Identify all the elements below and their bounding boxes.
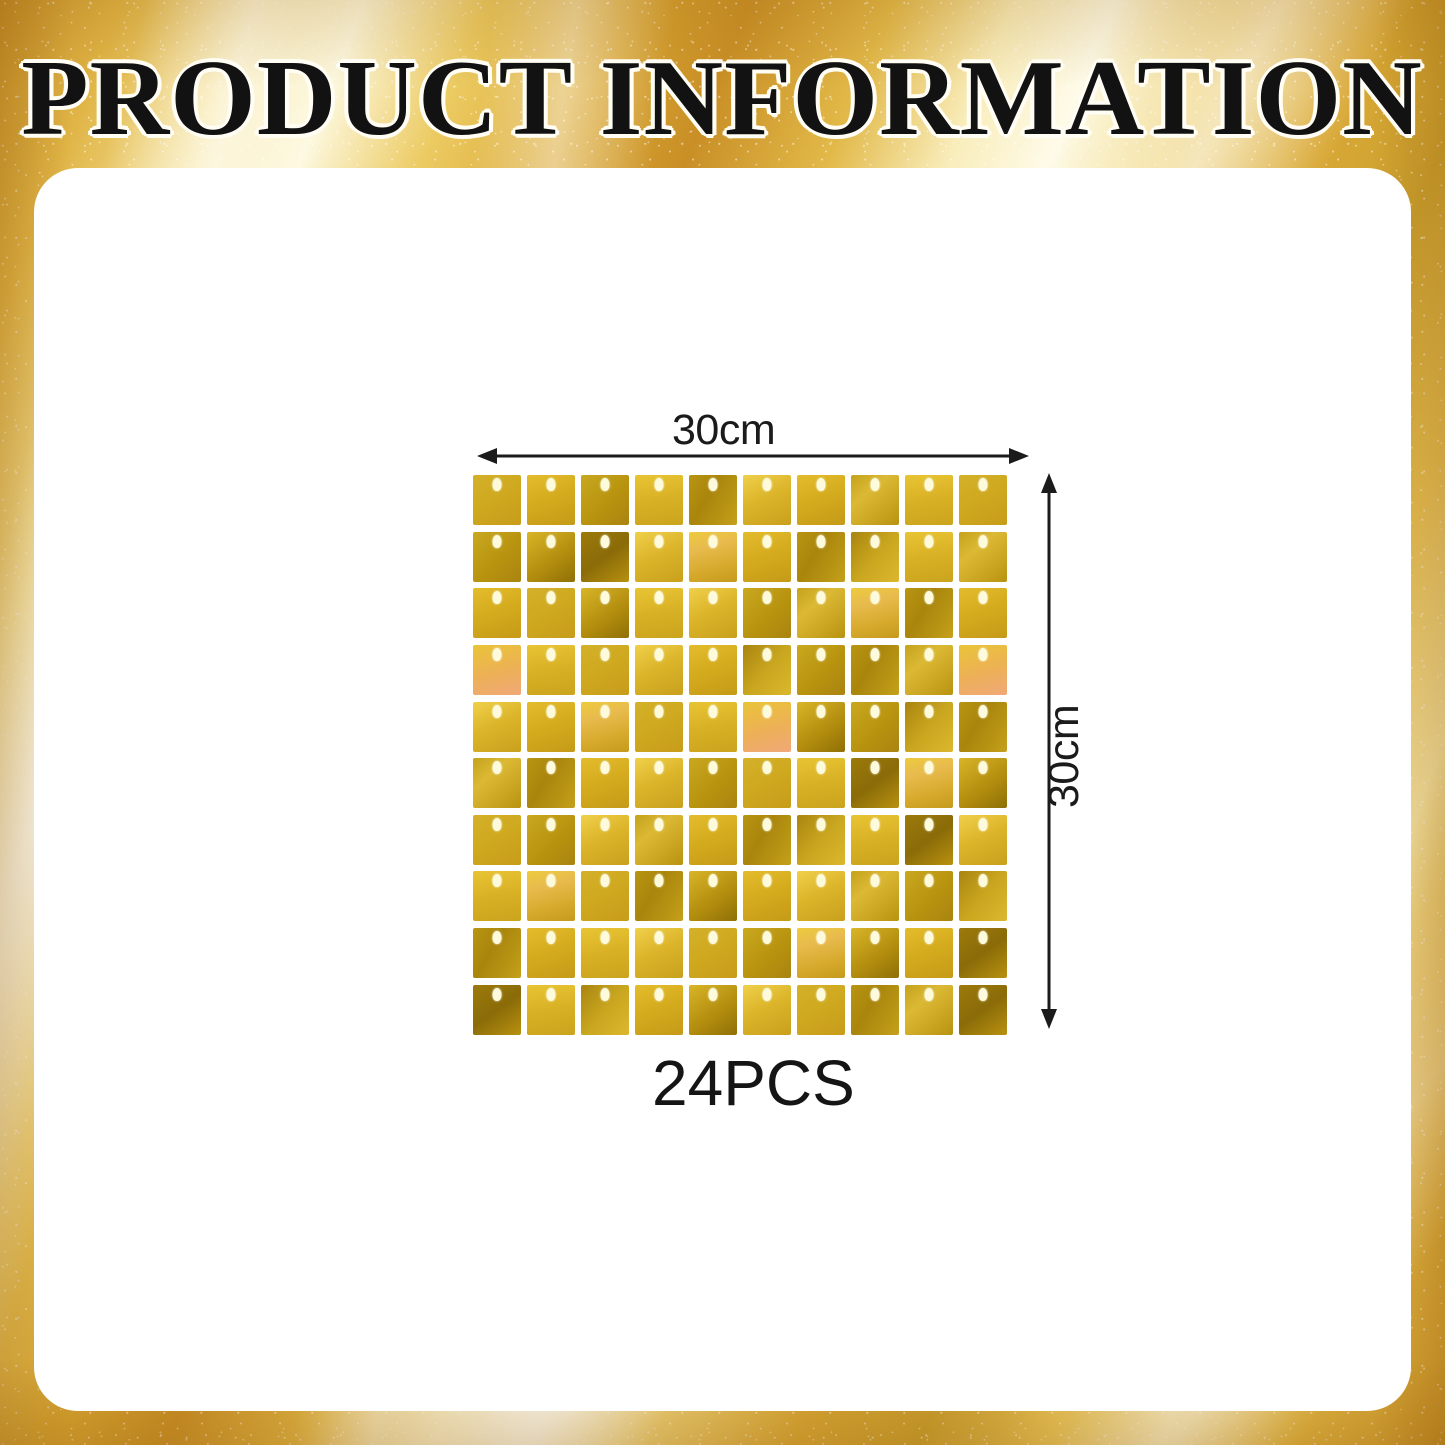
sequin-tile xyxy=(635,815,683,865)
sequin-tile xyxy=(527,475,575,525)
sequin-tile xyxy=(743,475,791,525)
sequin-tile xyxy=(959,645,1007,695)
sequin-tile xyxy=(959,532,1007,582)
sequin-tile xyxy=(851,702,899,752)
sequin-tile xyxy=(473,702,521,752)
sequin-tile xyxy=(473,475,521,525)
sequin-tile xyxy=(581,815,629,865)
sequin-tile xyxy=(851,532,899,582)
sequin-tile xyxy=(635,928,683,978)
sequin-tile xyxy=(527,928,575,978)
sequin-tile xyxy=(797,475,845,525)
arrow-down-icon xyxy=(1041,1009,1057,1029)
sequin-tile xyxy=(527,645,575,695)
sequin-tile xyxy=(689,645,737,695)
sequin-tile xyxy=(743,588,791,638)
sequin-tile xyxy=(527,532,575,582)
sequin-tile xyxy=(797,928,845,978)
title-bar: PRODUCT INFORMATION xyxy=(0,44,1445,154)
sequin-tile xyxy=(635,645,683,695)
page-title: PRODUCT INFORMATION xyxy=(22,45,1423,153)
sequin-tile xyxy=(797,758,845,808)
dimension-diagram: 30cm 30cm xyxy=(34,168,1411,1411)
sequin-tile xyxy=(743,871,791,921)
sequin-tile xyxy=(581,758,629,808)
sequin-tile xyxy=(473,815,521,865)
sequin-tile xyxy=(527,758,575,808)
sequin-tile xyxy=(473,871,521,921)
sequin-tile xyxy=(905,475,953,525)
sequin-tile xyxy=(581,985,629,1035)
sequin-tile xyxy=(635,702,683,752)
sequin-tile xyxy=(635,985,683,1035)
sequin-tile xyxy=(905,588,953,638)
sequin-tile xyxy=(797,871,845,921)
sequin-tile xyxy=(905,985,953,1035)
sequin-tile xyxy=(743,815,791,865)
sequin-tile xyxy=(635,588,683,638)
vertical-dimension-arrow xyxy=(1039,473,1059,1029)
sequin-tile xyxy=(905,645,953,695)
sequin-tile xyxy=(959,815,1007,865)
sequin-tile xyxy=(689,702,737,752)
sequin-tile xyxy=(797,588,845,638)
sequin-tile xyxy=(959,758,1007,808)
sequin-tile xyxy=(635,532,683,582)
arrow-left-icon xyxy=(477,448,497,464)
sequin-tile xyxy=(689,758,737,808)
sequin-tile xyxy=(473,645,521,695)
horizontal-dimension-arrow xyxy=(477,446,1029,466)
sequin-tile xyxy=(851,928,899,978)
sequin-tile xyxy=(581,475,629,525)
sequin-tile xyxy=(689,475,737,525)
sequin-tile xyxy=(851,985,899,1035)
sequin-tile xyxy=(743,758,791,808)
sequin-backdrop-panel xyxy=(470,472,1010,1038)
quantity-label: 24PCS xyxy=(652,1046,855,1120)
sequin-tile xyxy=(743,985,791,1035)
content-panel: 30cm 30cm xyxy=(34,168,1411,1411)
arrow-up-icon xyxy=(1041,473,1057,493)
sequin-tile xyxy=(527,588,575,638)
sequin-tile xyxy=(851,871,899,921)
sequin-tile xyxy=(527,985,575,1035)
sequin-tile xyxy=(959,588,1007,638)
sequin-tile xyxy=(851,645,899,695)
sequin-tile xyxy=(959,475,1007,525)
sequin-tile xyxy=(635,871,683,921)
sequin-tile xyxy=(905,871,953,921)
sequin-tile xyxy=(743,645,791,695)
sequin-tile xyxy=(959,985,1007,1035)
sequin-tile xyxy=(689,928,737,978)
sequin-tile xyxy=(473,758,521,808)
sequin-tile xyxy=(689,871,737,921)
sequin-tile xyxy=(581,532,629,582)
sequin-tile xyxy=(797,815,845,865)
sequin-tile xyxy=(473,532,521,582)
sequin-tile xyxy=(473,928,521,978)
sequin-tile xyxy=(851,758,899,808)
sequin-tile xyxy=(689,985,737,1035)
sequin-tile xyxy=(905,532,953,582)
sequin-tile xyxy=(689,588,737,638)
sequin-tile xyxy=(581,645,629,695)
sequin-tile xyxy=(797,985,845,1035)
sequin-tile xyxy=(797,532,845,582)
sequin-tile xyxy=(743,532,791,582)
sequin-tile xyxy=(905,702,953,752)
sequin-tile xyxy=(689,815,737,865)
sequin-tile xyxy=(527,871,575,921)
sequin-tile xyxy=(635,758,683,808)
sequin-tile xyxy=(959,702,1007,752)
sequin-tile xyxy=(581,702,629,752)
sequin-tile xyxy=(635,475,683,525)
sequin-tile xyxy=(581,871,629,921)
sequin-tile xyxy=(743,702,791,752)
sequin-tile xyxy=(581,928,629,978)
sequin-tile xyxy=(797,702,845,752)
sequin-tile xyxy=(473,588,521,638)
sequin-tile xyxy=(905,758,953,808)
sequin-tile xyxy=(527,702,575,752)
sequin-tile xyxy=(851,815,899,865)
sequin-tile xyxy=(473,985,521,1035)
sequin-tile xyxy=(905,928,953,978)
sequin-tile xyxy=(959,928,1007,978)
sequin-tile xyxy=(851,475,899,525)
sequin-tile xyxy=(581,588,629,638)
sequin-tile xyxy=(743,928,791,978)
sequin-tile xyxy=(527,815,575,865)
sequin-tile xyxy=(851,588,899,638)
sequin-tile xyxy=(797,645,845,695)
sequin-tile xyxy=(689,532,737,582)
sequin-tile xyxy=(905,815,953,865)
arrow-right-icon xyxy=(1009,448,1029,464)
sequin-tile xyxy=(959,871,1007,921)
